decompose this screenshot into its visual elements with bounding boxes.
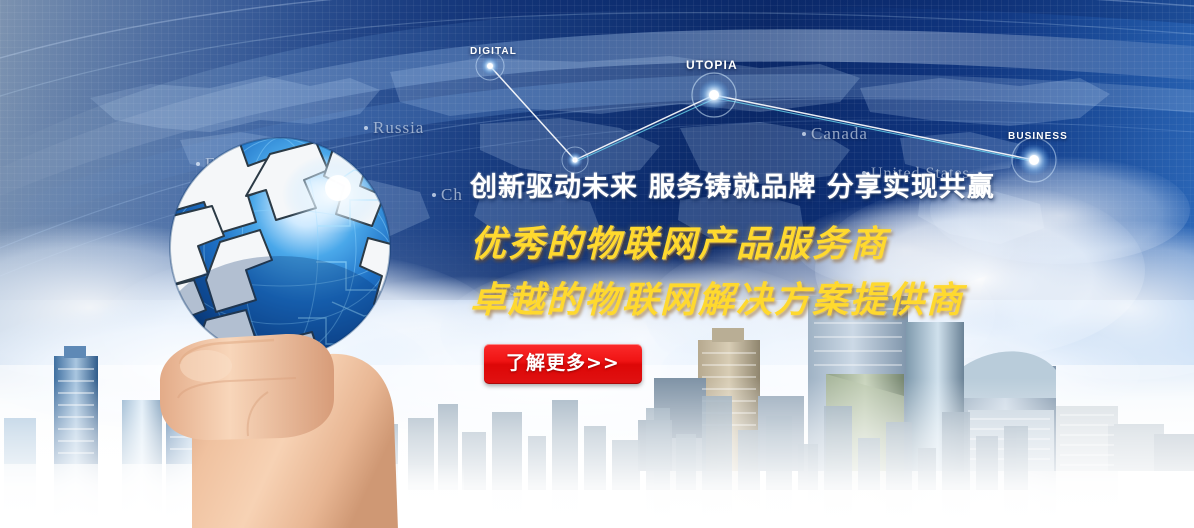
- learn-more-button[interactable]: 了解更多>>: [484, 344, 642, 384]
- promo-banner: DIGITAL UTOPIA BUSINESS Russia Eu Ch Can…: [0, 0, 1194, 528]
- fingers-shape: [160, 334, 334, 440]
- banner-headline: 创新驱动未来 服务铸就品牌 分享实现共赢: [470, 165, 1090, 204]
- map-dot-icon: [802, 132, 806, 136]
- network-node-label-digital: DIGITAL: [470, 46, 517, 57]
- hand-holding-globe-icon: [120, 130, 480, 528]
- map-label-canada: Canada: [802, 124, 868, 144]
- banner-subline-1: 优秀的物联网产品服务商: [470, 226, 1090, 262]
- cityscape-skyline-middle-icon: [400, 378, 1040, 528]
- network-node-label-utopia: UTOPIA: [686, 58, 738, 72]
- banner-copy-block: 创新驱动未来 服务铸就品牌 分享实现共赢 优秀的物联网产品服务商 卓越的物联网解…: [470, 165, 1090, 384]
- network-node-label-business: BUSINESS: [1008, 131, 1068, 142]
- banner-subline-2: 卓越的物联网解决方案提供商: [470, 282, 1090, 318]
- network-node-utopia: [692, 73, 736, 117]
